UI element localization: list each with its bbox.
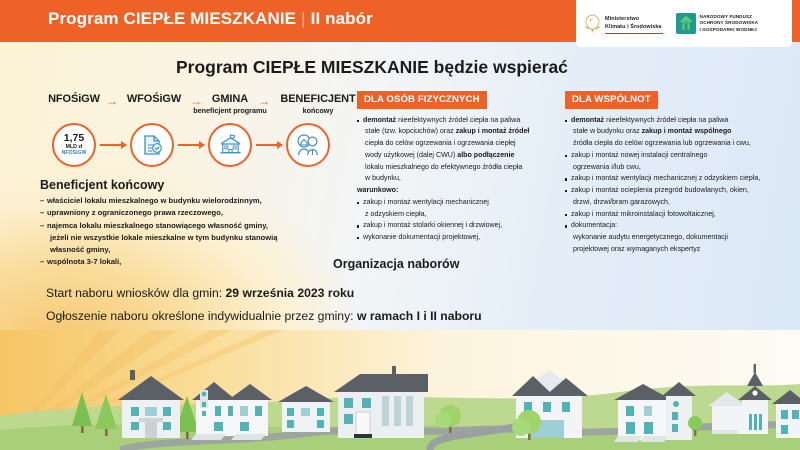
flow-node-people (286, 123, 330, 167)
communities-item: demontaż nieefektywnych źródeł ciepła na… (565, 115, 797, 150)
individuals-item-continuation: w budynku, (363, 173, 552, 185)
beneficiary-heading: Beneficjent końcowy (40, 178, 352, 192)
individuals-item-continuation: wody użytkowej (dalej CWU) albo podłącze… (363, 150, 552, 162)
communities-item: zakup i montaż mikroinstalacji fotowolta… (565, 209, 797, 221)
page-title: Program CIEPŁE MIESZKANIE|II nabór (48, 9, 373, 29)
nfosigw-tree-icon (676, 13, 696, 34)
flow-labels: NFOŚiGW → WFOŚiGW → GMINA beneficjent pr… (44, 93, 364, 121)
flow-label-nfosigw: NFOŚiGW (44, 93, 104, 105)
communities-item: zakup i montaż ocieplenia przegród budow… (565, 185, 797, 209)
flow-node-money: 1,75 MLD zł NFOŚiGW (52, 123, 96, 167)
flow-node-townhall (208, 123, 252, 167)
flow-sublabel-beneficjent: końcowy (272, 106, 364, 115)
communities-list: demontaż nieefektywnych źródeł ciepła na… (565, 115, 797, 256)
beneficiary-item: najemca lokalu mieszkalnego stanowiącego… (40, 220, 352, 257)
funding-org: NFOŚiGW (62, 150, 87, 157)
flow-icon-row: 1,75 MLD zł NFOŚiGW (44, 123, 364, 175)
communities-item-continuation: źródła ciepła do celów ogrzewania lub og… (571, 138, 797, 150)
communities-item: zakup i montaż nowej instalacji centraln… (565, 150, 797, 174)
beneficiary-item: właściciel lokalu mieszkalnego w budynku… (40, 195, 352, 207)
townhall-icon (218, 133, 243, 157)
individuals-item-continuation: ciepła do celów ogrzewania i ogrzewania … (363, 138, 552, 150)
ministerstwo-line2: Klimatu i Środowiska (605, 24, 662, 31)
column-individuals: DLA OSÓB FIZYCZNYCH demontaż nieefektywn… (357, 89, 552, 244)
badge-communities: DLA WSPÓLNOT (565, 91, 658, 109)
column-communities: DLA WSPÓLNOT demontaż nieefektywnych źró… (565, 89, 797, 256)
communities-item-continuation: drzwi, drzwi/bram garażowych, (571, 197, 797, 209)
individuals-condition-list: zakup i montaż wentylacji mechanicznejz … (357, 197, 552, 244)
title-prefix: Program (48, 9, 119, 28)
beneficiary-list: właściciel lokalu mieszkalnego w budynku… (40, 195, 352, 269)
beneficiary-item: wspólnota 3-7 lokali, (40, 256, 352, 268)
header-bar: Program CIEPŁE MIESZKANIE|II nabór Minis… (0, 0, 800, 42)
beneficiary-item: uprawniony z ograniczonego prawa rzeczow… (40, 207, 352, 219)
main-subtitle: Program CIEPŁE MIESZKANIE będzie wspiera… (176, 57, 568, 78)
flow-arrow-3 (256, 144, 282, 146)
flow-arrow-2 (178, 144, 204, 146)
document-check-icon (140, 133, 164, 157)
individuals-item-continuation: stałe (tzw. kopciuchów) oraz zakup i mon… (363, 126, 552, 138)
nfosigw-line3: I GOSPODARKI WODNEJ (700, 27, 759, 33)
title-suffix: II nabór (311, 9, 373, 28)
flow-arrow-1 (100, 144, 126, 146)
condition-label: warunkowo: (357, 185, 552, 197)
nfosigw-logo: NARODOWY FUNDUSZ OCHRONY ŚRODOWISKA I GO… (676, 13, 759, 34)
beneficiary-item-continuation: jeżeli nie wszystkie lokale mieszkalne w… (47, 232, 352, 244)
organisation-heading: Organizacja naborów (333, 257, 459, 271)
polish-eagle-icon (584, 14, 601, 33)
column-communities-body: demontaż nieefektywnych źródeł ciepła na… (565, 115, 797, 256)
ministerstwo-red-rule (605, 33, 663, 34)
flow-label-arrow-1: → (106, 94, 118, 108)
ministerstwo-line1: Ministerstwo (605, 16, 662, 23)
village-svg (0, 330, 800, 450)
communities-item: dokumentacja:wykonanie audytu energetycz… (565, 220, 797, 255)
communities-item-continuation: projektowej oraz wymaganych ekspertyz (571, 244, 797, 256)
flow-label-beneficjent: BENEFICJENT (272, 93, 364, 105)
badge-individuals: DLA OSÓB FIZYCZNYCH (357, 91, 487, 109)
flow-label-wfosigw: WFOŚiGW (121, 93, 187, 105)
individuals-main-list: demontaż nieefektywnych źródeł ciepła na… (357, 115, 552, 186)
infographic-poster: Program CIEPŁE MIESZKANIE|II nabór Minis… (0, 0, 800, 450)
logo-plate: Ministerstwo Klimatu i Środowiska NARODO… (576, 0, 792, 47)
beneficiary-item-continuation: własność gminy, (47, 244, 352, 256)
funding-flow-diagram: NFOŚiGW → WFOŚiGW → GMINA beneficjent pr… (44, 93, 364, 175)
org-line2-normal: Ogłoszenie naboru określone indywidualni… (46, 309, 357, 323)
communities-item: zakup i montaż wentylacji mechanicznej z… (565, 173, 797, 185)
funding-amount: 1,75 (64, 133, 84, 144)
communities-item-continuation: wykonanie audytu energetycznego, dokumen… (571, 232, 797, 244)
column-individuals-body: demontaż nieefektywnych źródeł ciepła na… (357, 115, 552, 244)
individuals-condition-item-continuation: z odzyskiem ciepła, (363, 209, 552, 221)
title-separator: | (296, 9, 311, 28)
flow-label-arrow-3: → (258, 94, 270, 108)
org-line1-normal: Start naboru wniosków dla gmin: (46, 286, 226, 300)
individuals-item-continuation: lokalu mieszkalnego do efektywnego źródł… (363, 162, 552, 174)
flow-label-gmina: GMINA (205, 93, 255, 105)
nfosigw-line2: OCHRONY ŚRODOWISKA (700, 20, 759, 26)
communities-item-continuation: ogrzewania i/lub cwu, (571, 162, 797, 174)
communities-item-continuation: stałe w budynku oraz zakup i montaż wspó… (571, 126, 797, 138)
org-line1-bold: 29 września 2023 roku (226, 286, 355, 300)
organisation-line-1: Start naboru wniosków dla gmin: 29 wrześ… (46, 286, 354, 300)
beneficiary-block: Beneficjent końcowy właściciel lokalu mi… (40, 178, 352, 269)
people-house-icon (295, 133, 321, 157)
ministerstwo-klimatu-logo: Ministerstwo Klimatu i Środowiska (584, 14, 662, 33)
village-illustration (0, 330, 800, 450)
individuals-condition-item: zakup i montaż stolarki okiennej i drzwi… (357, 220, 552, 232)
individuals-condition-item: zakup i montaż wentylacji mechanicznejz … (357, 197, 552, 221)
flow-node-document (130, 123, 174, 167)
individuals-condition-item: wykonanie dokumentacji projektowej, (357, 232, 552, 244)
organisation-line-2: Ogłoszenie naboru określone indywidualni… (46, 309, 482, 323)
org-line2-bold: w ramach I i II naboru (357, 309, 482, 323)
title-main: CIEPŁE MIESZKANIE (123, 9, 296, 28)
individuals-item: demontaż nieefektywnych źródeł ciepła na… (357, 115, 552, 186)
